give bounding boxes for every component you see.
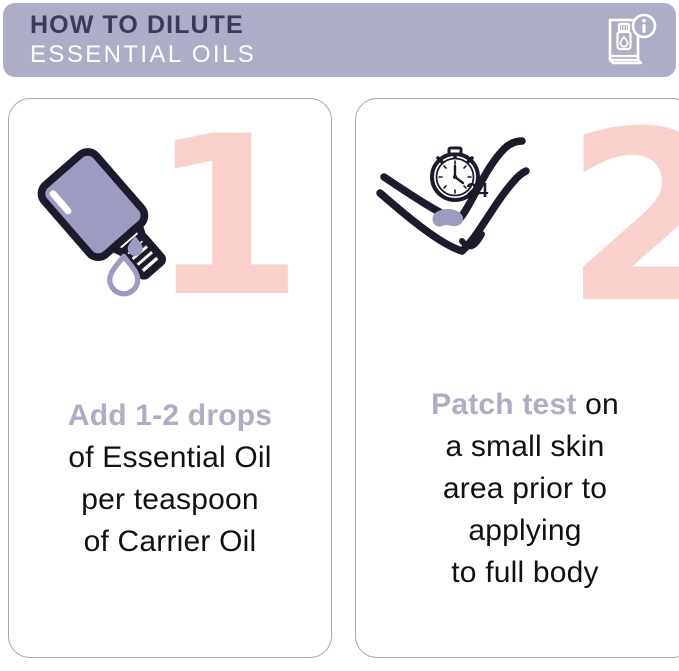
step-card-1: 1 <box>8 98 332 658</box>
step-2-text-line-2: a small skin <box>356 426 679 468</box>
oil-bottle-info-icon <box>602 12 658 68</box>
page-title: HOW TO DILUTE <box>30 10 256 40</box>
step-2-description: Patch test on a small skin area prior to… <box>356 384 679 594</box>
dropper-bottle-with-drop-icon <box>27 129 209 316</box>
step-2-rest-1: on <box>577 388 619 421</box>
step-1-description: Add 1-2 drops of Essential Oil per teasp… <box>9 395 331 563</box>
header-bar: HOW TO DILUTE ESSENTIAL OILS <box>3 3 676 77</box>
step-2-text-line-3: area prior to <box>356 468 679 510</box>
step-1-text-line-1: Add 1-2 drops <box>9 395 331 437</box>
step-1-text-line-4: of Carrier Oil <box>9 521 331 563</box>
step-2-emphasis: Patch test <box>431 388 576 421</box>
page-subtitle: ESSENTIAL OILS <box>30 40 256 70</box>
step-2-text-line-4: applying <box>356 510 679 552</box>
step-2-text-line-5: to full body <box>356 552 679 594</box>
step-1-text-line-2: of Essential Oil <box>9 437 331 479</box>
steps-container: 1 <box>0 98 679 671</box>
step-number-badge-2: 2 <box>564 101 679 336</box>
step-1-emphasis: Add 1-2 drops <box>68 399 272 432</box>
header-text-block: HOW TO DILUTE ESSENTIAL OILS <box>30 10 256 70</box>
step-card-2: 2 <box>355 98 679 658</box>
step-1-text-line-3: per teaspoon <box>9 479 331 521</box>
stopwatch-hours-label: 24 <box>466 180 489 202</box>
arm-patch-test-stopwatch-icon: 24 <box>366 125 566 280</box>
step-2-text-line-1: Patch test on <box>356 384 679 426</box>
